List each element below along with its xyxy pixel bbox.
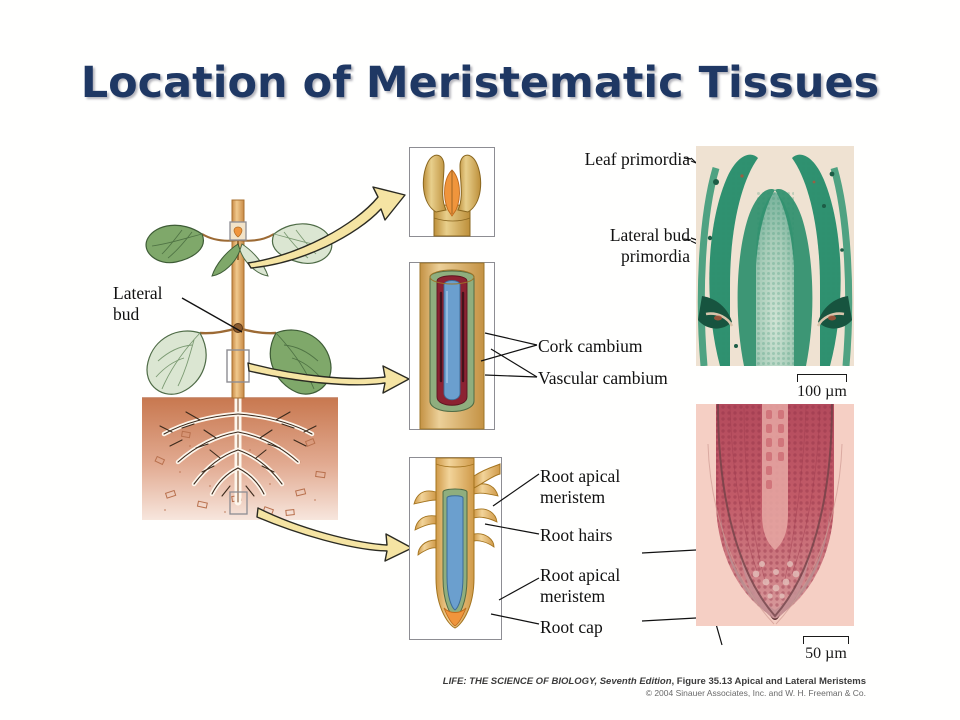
figure-credit-copyright: © 2004 Sinauer Associates, Inc. and W. H… bbox=[443, 688, 866, 698]
scale-bar-100um-text: 100 µm bbox=[797, 383, 847, 400]
slide-canvas: Location of Meristematic Tissues bbox=[0, 0, 960, 720]
cork-cambium-label: Cork cambium bbox=[538, 337, 708, 357]
shoot-apex-micrograph bbox=[696, 146, 854, 366]
lateral-bud-leader-line bbox=[180, 292, 250, 338]
leader-lines-shoot-labels bbox=[684, 155, 694, 255]
callout-arrow-shoot bbox=[245, 165, 410, 270]
figure-credit-source: LIFE: THE SCIENCE OF BIOLOGY, Seventh Ed… bbox=[443, 676, 866, 687]
figure-credit-title: LIFE: THE SCIENCE OF BIOLOGY, Seventh Ed… bbox=[443, 676, 672, 687]
lateral-bud-label: Lateral bud bbox=[113, 283, 185, 324]
page-title: Location of Meristematic Tissues bbox=[0, 58, 960, 108]
scale-bar-100um: 100 µm bbox=[785, 374, 859, 401]
leaf-primordia-label: Leaf primordia bbox=[525, 150, 690, 170]
vascular-cambium-label: Vascular cambium bbox=[538, 369, 718, 389]
callout-arrow-root bbox=[255, 505, 415, 565]
leader-lines-root-inset bbox=[455, 462, 547, 637]
figure-credit: LIFE: THE SCIENCE OF BIOLOGY, Seventh Ed… bbox=[443, 676, 866, 698]
lateral-bud-primordia-label: Lateral bud primordia bbox=[525, 225, 690, 267]
shoot-apical-meristem-inset bbox=[409, 147, 495, 237]
scale-bar-50um: 50 µm bbox=[790, 636, 862, 663]
root-tip-micrograph bbox=[696, 404, 854, 626]
callout-arrow-stem bbox=[245, 355, 413, 401]
leader-lines-stem-inset bbox=[455, 315, 545, 390]
figure-credit-figure: , Figure 35.13 Apical and Lateral Merist… bbox=[672, 676, 866, 687]
shoot-apex-drawing bbox=[410, 148, 494, 236]
root-apical-meristem-upper-label: Root apical meristem bbox=[540, 466, 670, 508]
scale-bar-50um-text: 50 µm bbox=[805, 645, 847, 662]
